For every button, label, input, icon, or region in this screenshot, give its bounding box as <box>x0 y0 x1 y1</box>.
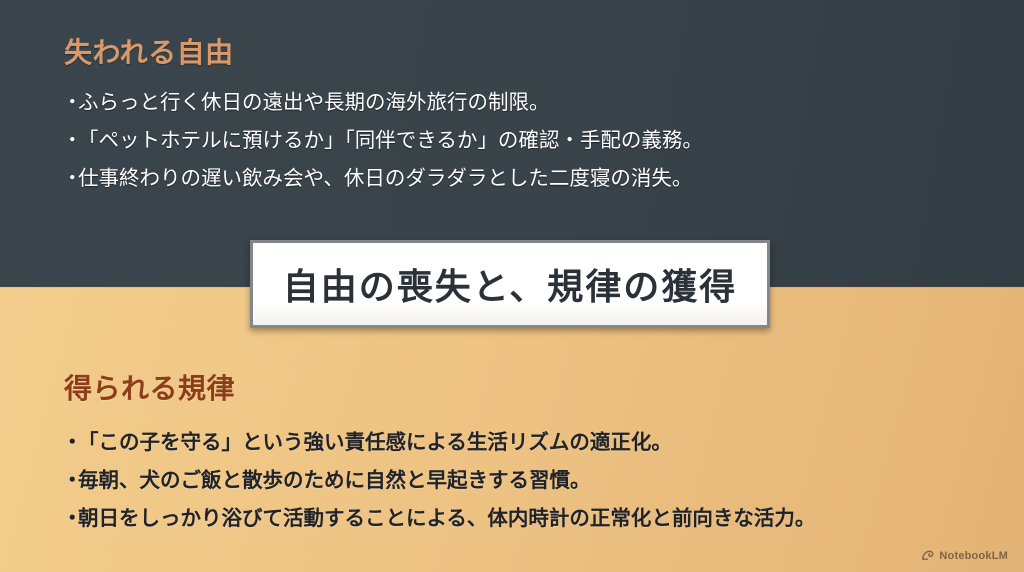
top-section-heading: 失われる自由 <box>64 31 234 71</box>
bullet-marker: ・ <box>62 424 78 462</box>
list-item: ・「ペットホテルに預けるか」「同伴できるか」の確認・手配の義務。 <box>62 122 703 160</box>
list-item-text: 毎朝、犬のご飯と散歩のために自然と早起きする習慣。 <box>78 469 591 492</box>
list-item-text: 仕事終わりの遅い飲み会や、休日のダラダラとした二度寝の消失。 <box>78 167 692 190</box>
notebooklm-icon <box>921 549 934 562</box>
list-item-text: 「ペットホテルに預けるか」「同伴できるか」の確認・手配の義務。 <box>78 129 703 152</box>
list-item: ・朝日をしっかり浴びて活動することによる、体内時計の正常化と前向きな活力。 <box>62 500 815 538</box>
bullet-marker: ・ <box>62 500 78 538</box>
notebooklm-watermark: NotebookLM <box>921 549 1008 562</box>
bullet-marker: ・ <box>62 122 78 160</box>
slide-canvas: 失われる自由 ・ふらっと行く休日の遠出や長期の海外旅行の制限。 ・「ペットホテル… <box>0 0 1024 572</box>
list-item: ・ふらっと行く休日の遠出や長期の海外旅行の制限。 <box>62 84 703 122</box>
list-item: ・仕事終わりの遅い飲み会や、休日のダラダラとした二度寝の消失。 <box>62 160 703 198</box>
bullet-marker: ・ <box>62 160 78 198</box>
list-item: ・毎朝、犬のご飯と散歩のために自然と早起きする習慣。 <box>62 462 815 500</box>
list-item-text: 朝日をしっかり浴びて活動することによる、体内時計の正常化と前向きな活力。 <box>78 507 815 530</box>
bottom-section-bullet-list: ・「この子を守る」という強い責任感による生活リズムの適正化。 ・毎朝、犬のご飯と… <box>62 424 815 538</box>
list-item-text: 「この子を守る」という強い責任感による生活リズムの適正化。 <box>78 431 672 454</box>
top-section-bullet-list: ・ふらっと行く休日の遠出や長期の海外旅行の制限。 ・「ペットホテルに預けるか」「… <box>62 84 703 198</box>
page-title: 自由の喪失と、規律の獲得 <box>283 258 738 310</box>
list-item: ・「この子を守る」という強い責任感による生活リズムの適正化。 <box>62 424 815 462</box>
slide-title-card: 自由の喪失と、規律の獲得 <box>250 240 770 328</box>
watermark-label: NotebookLM <box>939 550 1008 562</box>
bullet-marker: ・ <box>62 84 78 122</box>
list-item-text: ふらっと行く休日の遠出や長期の海外旅行の制限。 <box>78 91 550 114</box>
bullet-marker: ・ <box>62 462 78 500</box>
bottom-section-heading: 得られる規律 <box>64 367 235 407</box>
